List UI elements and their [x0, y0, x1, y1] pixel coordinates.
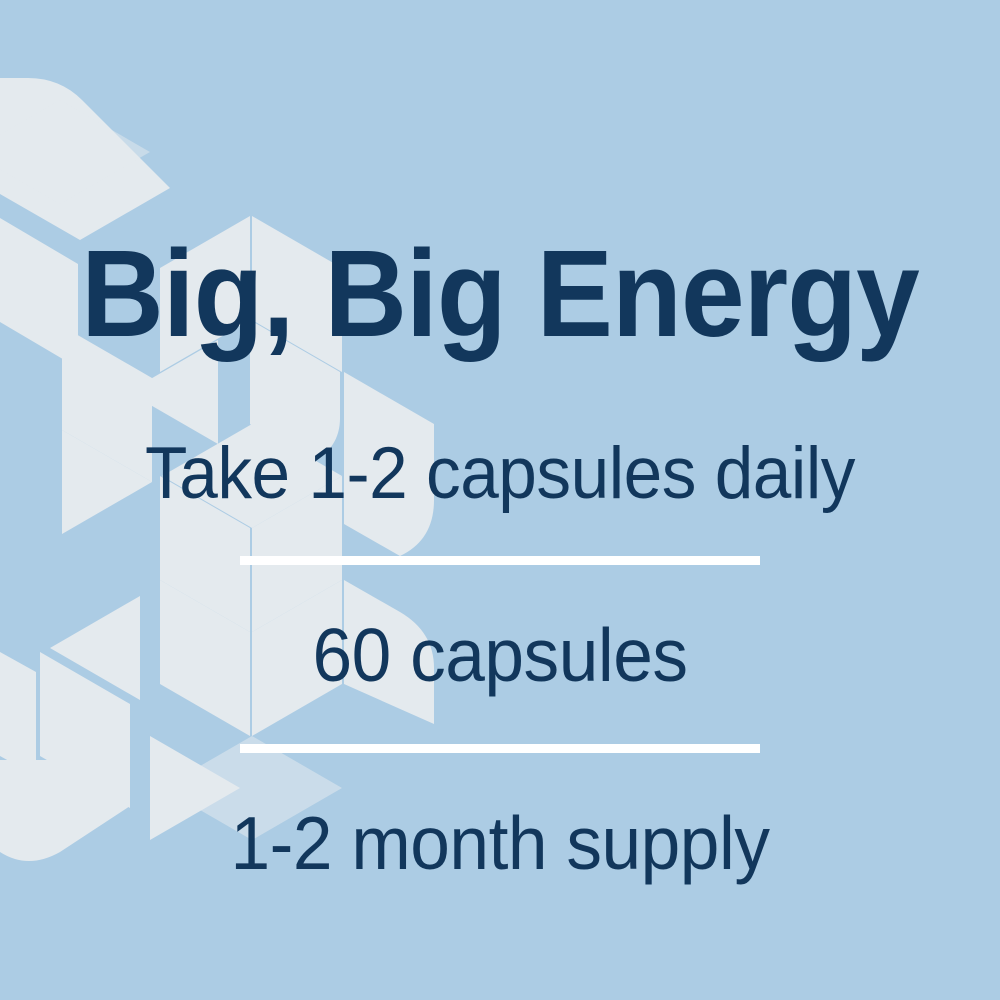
dosage-instruction: Take 1-2 capsules daily [25, 432, 975, 515]
supply-duration: 1-2 month supply [25, 800, 975, 886]
poster-content: Big, Big Energy Take 1-2 capsules daily … [0, 0, 1000, 1000]
page-title: Big, Big Energy [35, 232, 965, 357]
divider-bottom [240, 744, 760, 753]
capsule-count: 60 capsules [25, 612, 975, 698]
product-info-poster: Big, Big Energy Take 1-2 capsules daily … [0, 0, 1000, 1000]
divider-top [240, 556, 760, 565]
